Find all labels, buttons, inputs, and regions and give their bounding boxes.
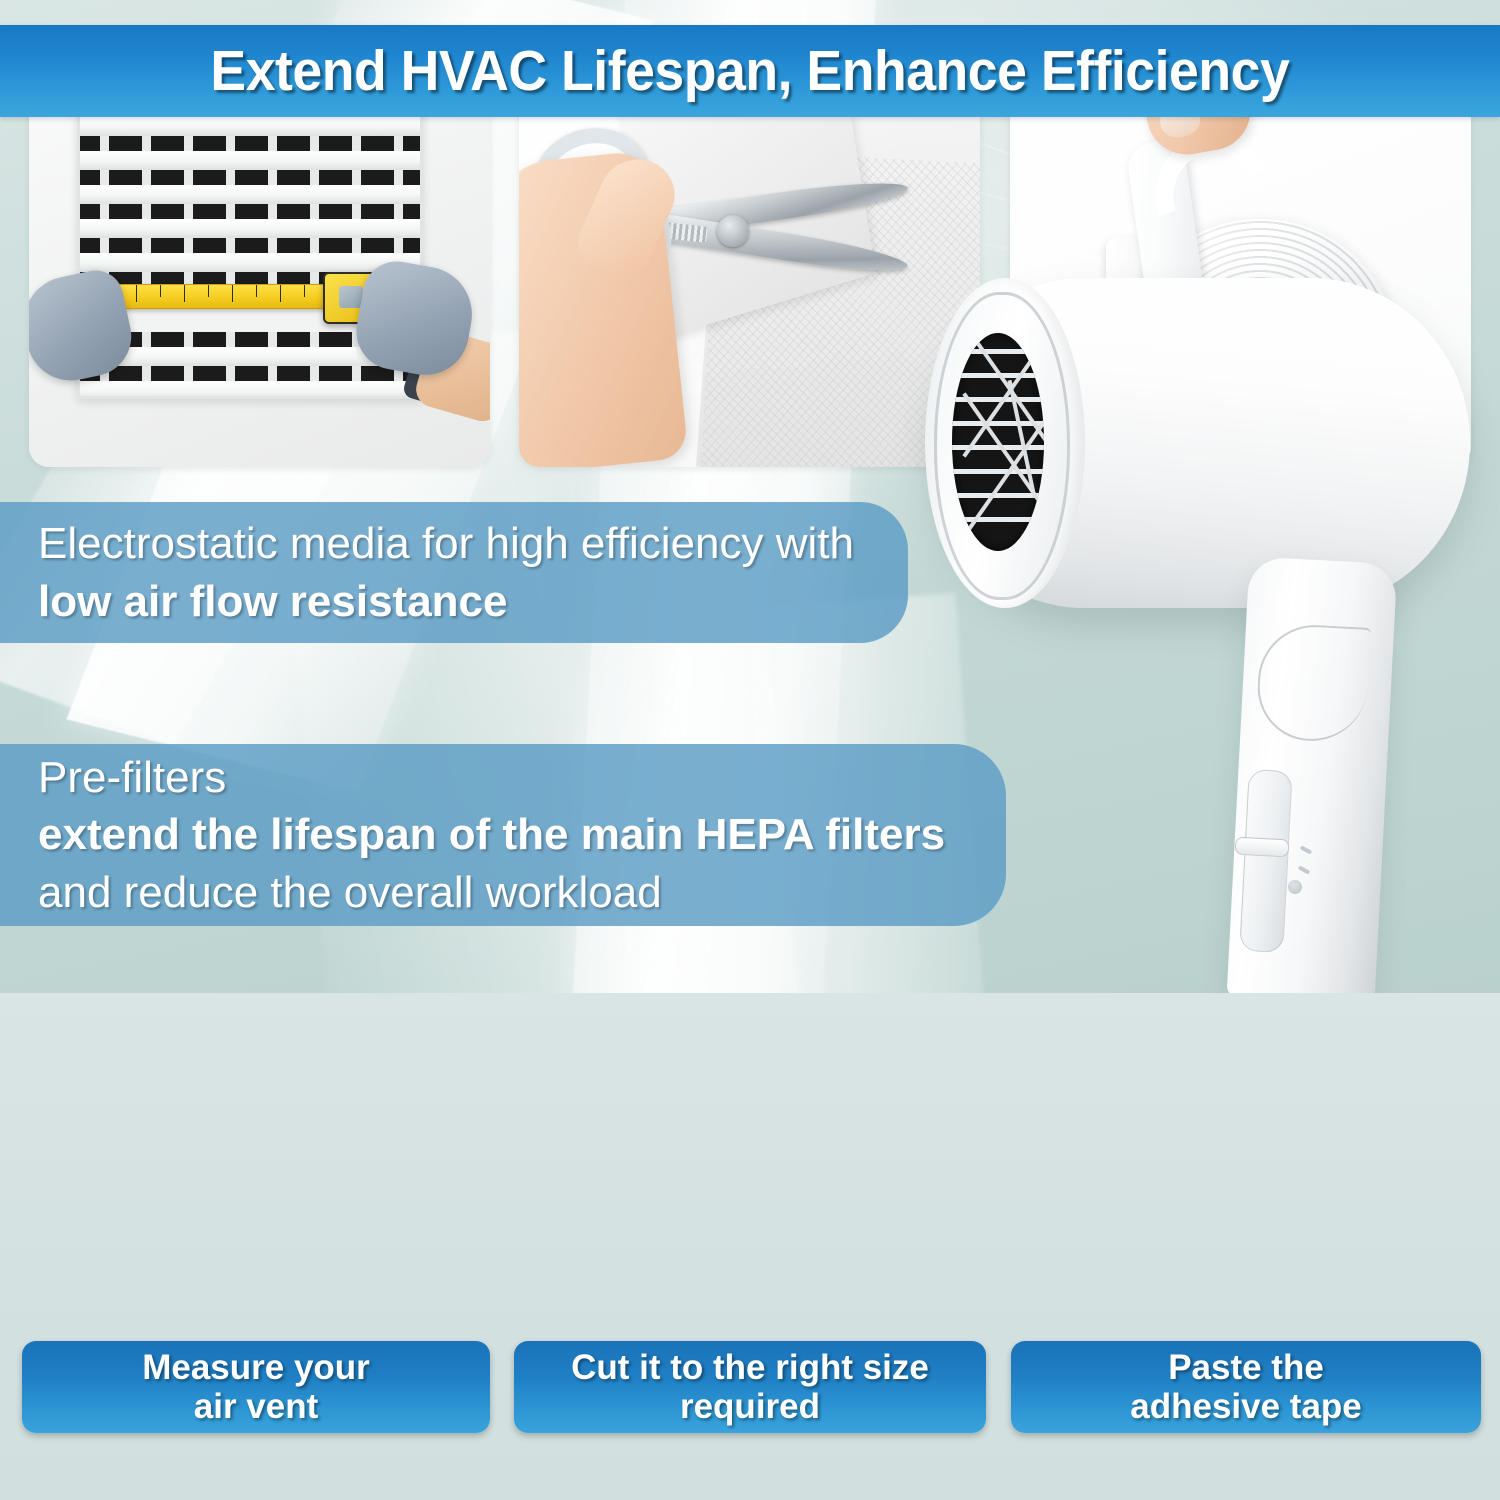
header-banner: Extend HVAC Lifespan, Enhance Efficiency (0, 25, 1500, 117)
caption-text: Cut it to the right size required (561, 1348, 939, 1426)
page-title: Extend HVAC Lifespan, Enhance Efficiency (211, 38, 1290, 104)
caption-line-2: adhesive tape (1130, 1387, 1362, 1426)
hair-dryer-button-icon (1288, 880, 1303, 895)
feature-line: low air flow resistance (38, 573, 908, 630)
caption-line-1: Cut it to the right size (571, 1348, 929, 1387)
product-infographic: Electrostatic media for high efficiency … (0, 0, 1500, 1500)
feature-line: Electrostatic media for high efficiency … (38, 515, 908, 572)
feature-callout-electrostatic: Electrostatic media for high efficiency … (0, 502, 908, 643)
feature-callout-prefilter: Pre-filters extend the lifespan of the m… (0, 744, 1006, 926)
hair-dryer-handle (1227, 556, 1398, 993)
feature-line: and reduce the overall workload (38, 864, 1006, 921)
hair-dryer-switch (1239, 769, 1292, 953)
step-caption-cut: Cut it to the right size required (514, 1341, 986, 1433)
hair-dryer-tick-icon (1300, 845, 1312, 854)
hair-dryer-slider (1235, 837, 1290, 858)
step-caption-measure: Measure your air vent (22, 1341, 490, 1433)
caption-line-1: Paste the (1168, 1348, 1324, 1387)
hair-dryer-tick-icon (1298, 865, 1310, 874)
caption-text: Paste the adhesive tape (1120, 1348, 1372, 1426)
caption-line-2: air vent (194, 1387, 319, 1426)
caption-text: Measure your air vent (132, 1348, 380, 1426)
feature-line: Pre-filters (38, 749, 1006, 806)
step-caption-paste: Paste the adhesive tape (1011, 1341, 1481, 1433)
caption-line-2: required (680, 1387, 820, 1426)
caption-line-1: Measure your (142, 1348, 370, 1387)
feature-line: extend the lifespan of the main HEPA fil… (38, 806, 1006, 863)
scissor-pivot (717, 215, 749, 247)
hair-dryer-seam (1255, 622, 1371, 744)
